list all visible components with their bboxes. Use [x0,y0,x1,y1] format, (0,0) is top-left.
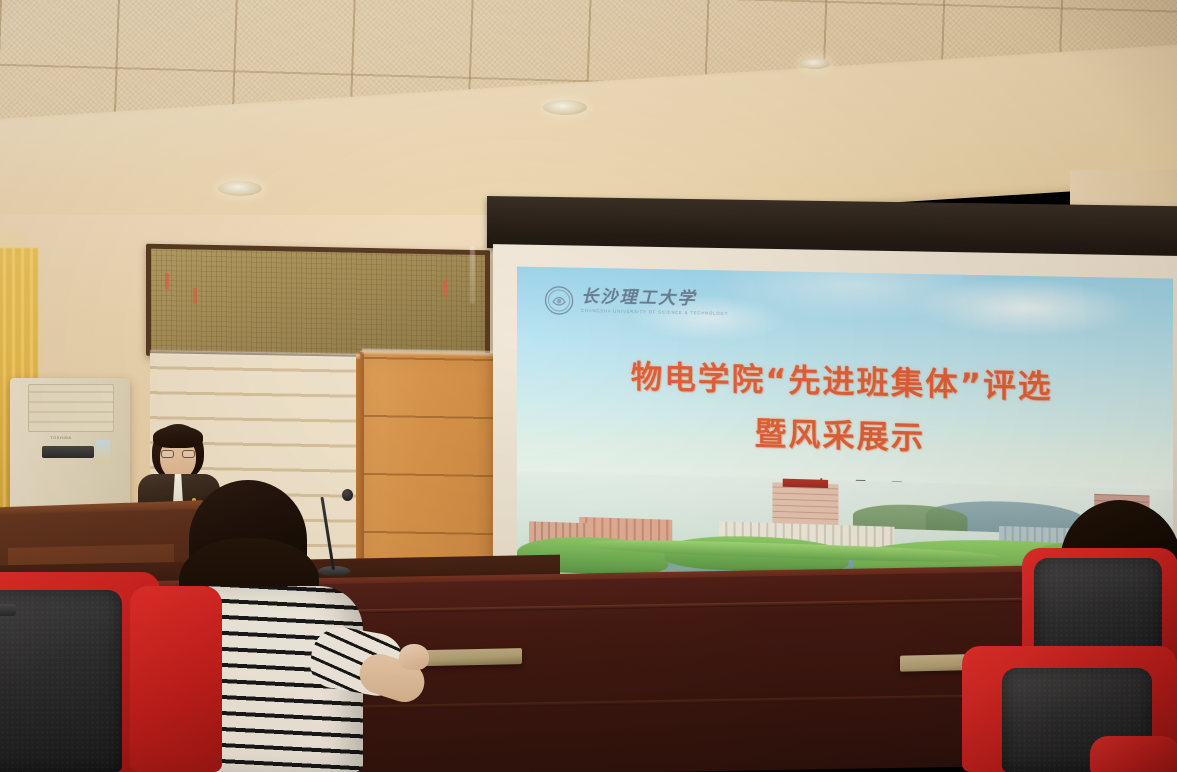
panel-mark-b [193,288,197,304]
presenter-hair-front [153,426,203,448]
presenter-glasses-icon [161,450,195,458]
university-logo: 长沙理工大学 CHANGSHA UNIVERSITY OF SCIENCE & … [544,285,728,319]
glasses-lens-left [161,450,174,458]
wall-acoustic-panel [146,244,490,363]
seat-far-left-shell [0,590,122,772]
seat-far-left-mesh [0,590,122,772]
panel-mark-a [165,273,169,289]
attendee-hand [399,644,429,670]
panel-mark-c [443,280,447,296]
auditorium-photo: 长沙理工大学 CHANGSHA UNIVERSITY OF SCIENCE & … [0,0,1177,772]
ac-brand-label: TOSHIBA [50,435,72,440]
glasses-lens-right [182,450,195,458]
wall-tape-hanging [470,246,475,304]
downlight-right-icon [543,100,587,115]
seat-bottom-right-cushion [1090,736,1177,772]
seat-far-left-tab [0,604,16,616]
ac-badge [96,440,110,464]
downlight-center-icon [218,181,262,196]
ac-vent-louvers [28,384,114,432]
university-logo-text: 长沙理工大学 CHANGSHA UNIVERSITY OF SCIENCE & … [581,289,728,316]
university-name-en: CHANGSHA UNIVERSITY OF SCIENCE & TECHNOL… [581,309,728,316]
downlight-far-right-icon [800,58,830,69]
air-conditioner-unit: TOSHIBA [10,378,130,514]
university-name-cn: 长沙理工大学 [581,289,728,309]
seat-center-left [130,586,234,772]
ac-display-panel [42,446,94,458]
seat-bottom-right [1090,736,1177,772]
university-seal-icon [544,285,574,316]
seat-center-left-cushion [130,586,222,772]
